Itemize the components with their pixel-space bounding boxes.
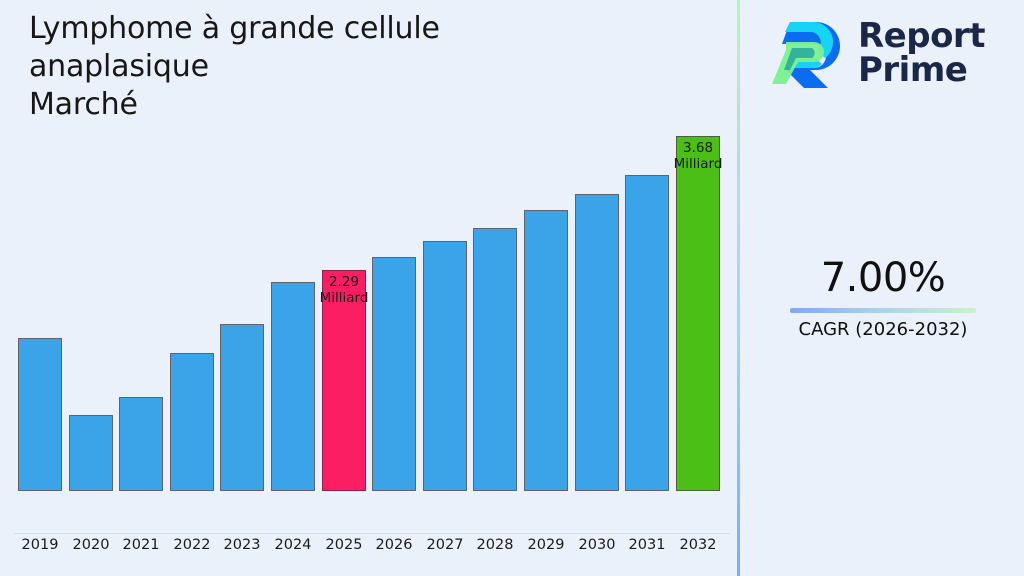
bar-2031 <box>625 175 669 491</box>
bar-2030 <box>575 194 619 491</box>
brand-name: Report Prime <box>858 19 985 87</box>
cagr-divider-rule <box>790 308 976 313</box>
x-tick-2027: 2027 <box>417 537 473 553</box>
bar-chart-plot: 2.29 Milliard3.68 Milliard <box>0 0 738 534</box>
x-tick-2025: 2025 <box>316 537 372 553</box>
x-tick-2032: 2032 <box>670 537 726 553</box>
x-tick-2030: 2030 <box>569 537 625 553</box>
cagr-caption: CAGR (2026-2032) <box>752 319 1014 341</box>
x-tick-2024: 2024 <box>265 537 321 553</box>
x-tick-2020: 2020 <box>63 537 119 553</box>
x-axis-tick-labels: 2019202020212022202320242025202620272028… <box>0 537 738 567</box>
chart-panel: Lymphome à grande cellule anaplasique Ma… <box>0 0 738 576</box>
bar-2019 <box>18 338 62 491</box>
x-tick-2023: 2023 <box>214 537 270 553</box>
info-panel: Report Prime 7.00% CAGR (2026-2032) <box>740 0 1024 576</box>
bar-2020 <box>69 415 113 491</box>
x-tick-2019: 2019 <box>12 537 68 553</box>
bar-2027 <box>423 241 467 491</box>
bar-2028 <box>473 228 517 491</box>
x-axis-line <box>14 533 730 534</box>
bar-2023 <box>220 324 264 491</box>
bar-2021 <box>119 397 163 491</box>
cagr-value: 7.00% <box>752 255 1014 301</box>
bar-2022 <box>170 353 214 491</box>
bar-label-2032: 3.68 Milliard <box>659 140 737 172</box>
bar-2026 <box>372 257 416 491</box>
bar-2029 <box>524 210 568 491</box>
x-tick-2021: 2021 <box>113 537 169 553</box>
cagr-block: 7.00% CAGR (2026-2032) <box>752 255 1014 341</box>
report-prime-logo-icon <box>770 18 844 88</box>
brand-logo: Report Prime <box>770 12 1010 94</box>
brand-name-line2: Prime <box>858 50 967 90</box>
bar-2024 <box>271 282 315 491</box>
x-tick-2028: 2028 <box>467 537 523 553</box>
x-tick-2022: 2022 <box>164 537 220 553</box>
x-tick-2026: 2026 <box>366 537 422 553</box>
x-tick-2031: 2031 <box>619 537 675 553</box>
bar-2032 <box>676 136 720 491</box>
x-tick-2029: 2029 <box>518 537 574 553</box>
screenshot-root: Lymphome à grande cellule anaplasique Ma… <box>0 0 1024 576</box>
